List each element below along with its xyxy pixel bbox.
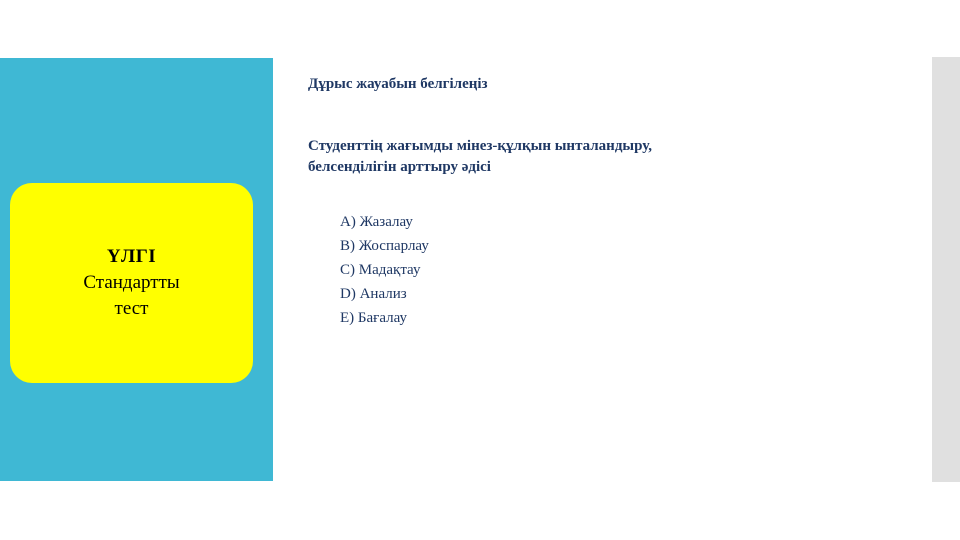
answer-option-a[interactable]: A) Жазалау — [340, 210, 908, 234]
card-subtitle-line-2: тест — [115, 296, 149, 322]
slide-canvas: ҮЛГІ Стандартты тест Дұрыс жауабын белгі… — [0, 0, 960, 540]
card-subtitle-line-1: Стандартты — [83, 270, 179, 296]
question-line-1: Студенттің жағымды мінез-құлқын ынталанд… — [308, 136, 908, 157]
answer-options-list: A) Жазалау B) Жоспарлау C) Мадақтау D) А… — [340, 210, 908, 330]
answer-option-b[interactable]: B) Жоспарлау — [340, 234, 908, 258]
instruction-text: Дұрыс жауабын белгілеңіз — [308, 74, 908, 94]
answer-option-d[interactable]: D) Анализ — [340, 282, 908, 306]
card-title: ҮЛГІ — [107, 244, 156, 270]
question-text: Студенттің жағымды мінез-құлқын ынталанд… — [308, 136, 908, 178]
answer-option-e[interactable]: E) Бағалау — [340, 306, 908, 330]
answer-option-c[interactable]: C) Мадақтау — [340, 258, 908, 282]
sample-test-card: ҮЛГІ Стандартты тест — [10, 183, 253, 383]
left-accent-panel: ҮЛГІ Стандартты тест — [0, 58, 273, 481]
question-content: Дұрыс жауабын белгілеңіз Студенттің жағы… — [308, 74, 908, 346]
right-edge-panel-sliver — [932, 57, 960, 482]
question-line-2: белсенділігін арттыру әдісі — [308, 157, 908, 178]
